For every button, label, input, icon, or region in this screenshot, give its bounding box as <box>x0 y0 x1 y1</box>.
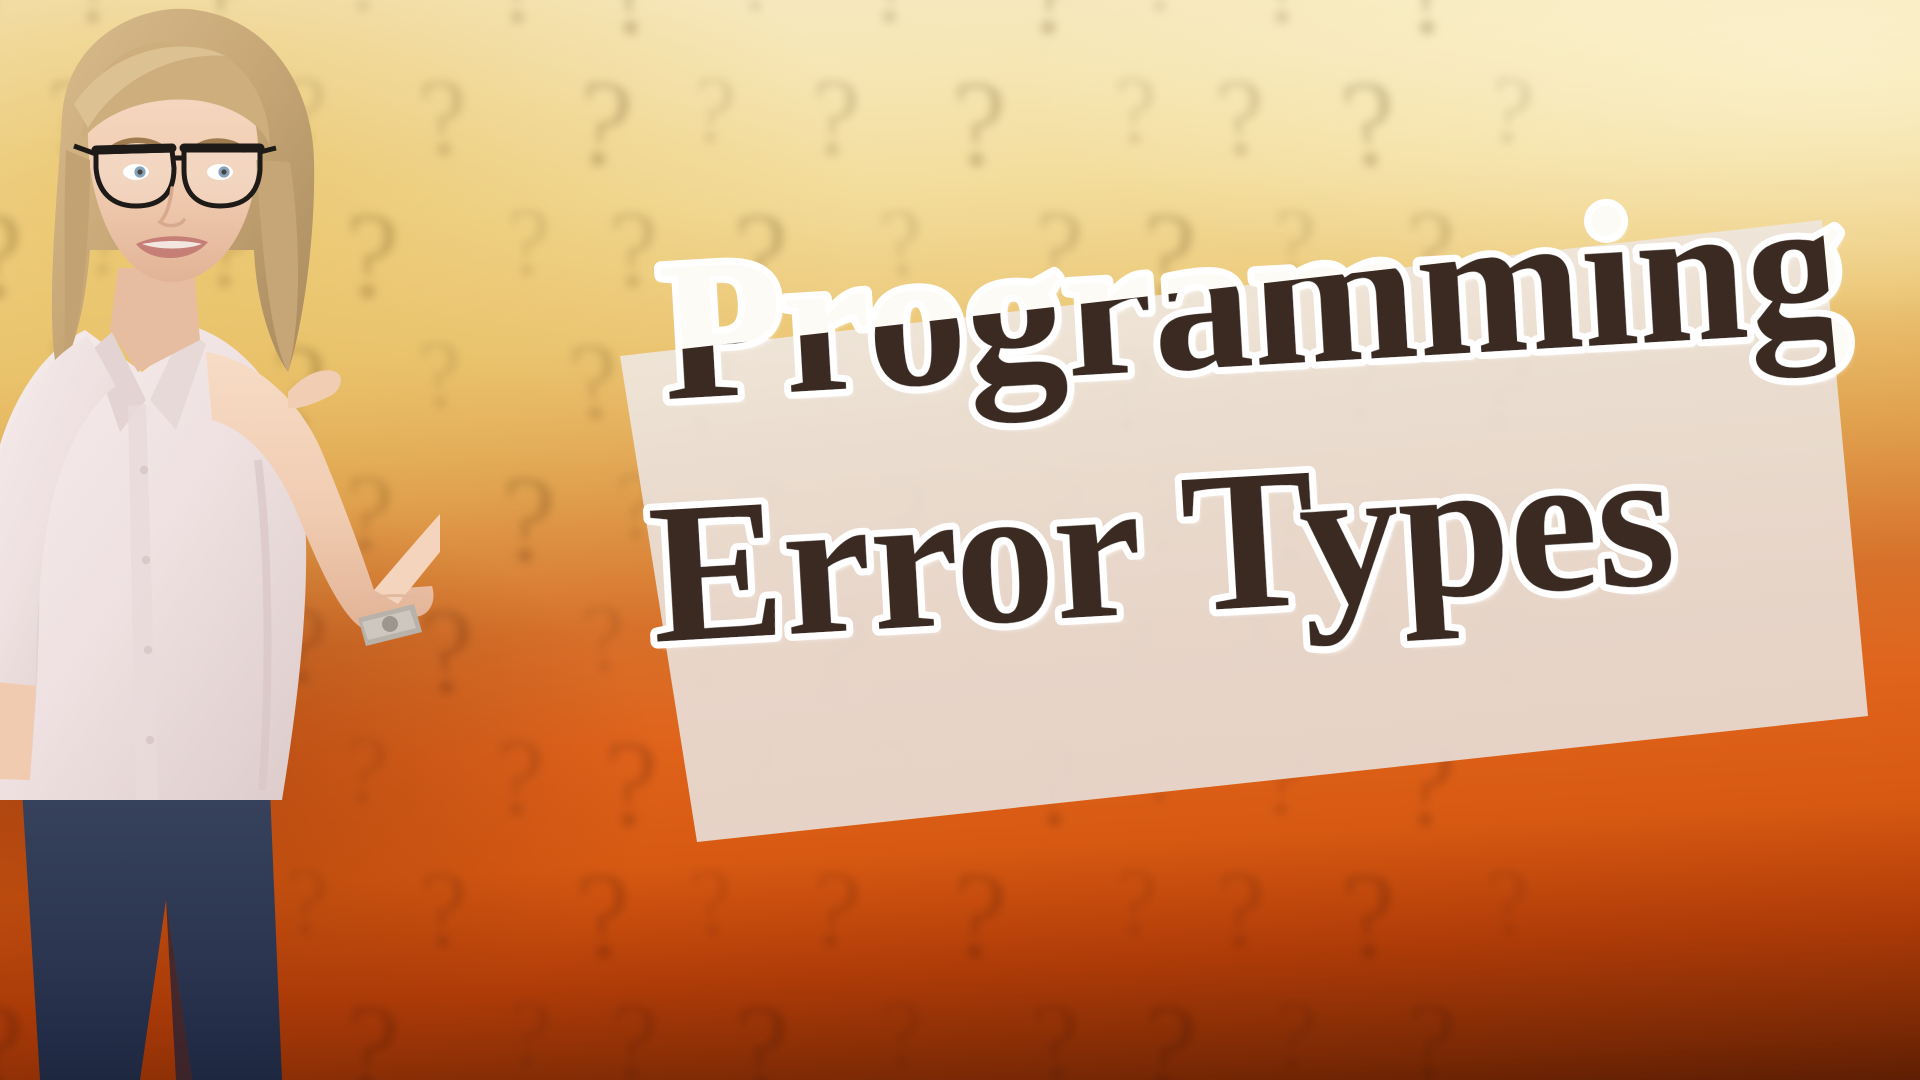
question-mark-glyph: ? <box>870 456 936 584</box>
question-mark-glyph: ? <box>1138 193 1199 320</box>
question-mark-glyph: ? <box>1477 588 1539 716</box>
question-mark-glyph: ? <box>807 588 871 716</box>
question-mark-glyph: ? <box>865 720 922 847</box>
question-mark-glyph: ? <box>809 61 862 187</box>
question-mark-glyph: ? <box>608 193 661 319</box>
question-mark-glyph: ? <box>1331 324 1390 452</box>
question-mark-glyph: ? <box>493 721 546 847</box>
question-mark-glyph: ? <box>952 62 1007 186</box>
question-mark-glyph: ? <box>504 985 553 1080</box>
question-mark-glyph: ? <box>806 852 865 980</box>
question-mark-glyph: ? <box>1214 325 1263 451</box>
question-mark-glyph: ? <box>1109 590 1158 714</box>
question-mark-glyph: ? <box>1136 720 1189 847</box>
question-mark-glyph: ? <box>731 192 795 320</box>
question-mark-glyph: ? <box>1271 194 1316 319</box>
question-mark-glyph: ? <box>1216 854 1267 979</box>
question-mark-glyph: ? <box>1405 985 1458 1080</box>
question-mark-glyph: ? <box>604 722 659 846</box>
question-mark-glyph: ? <box>734 986 791 1080</box>
question-mark-glyph: ? <box>1406 194 1457 319</box>
question-mark-glyph: ? <box>1137 456 1194 583</box>
question-mark-glyph: ? <box>1268 985 1319 1080</box>
question-mark-glyph: ? <box>688 61 739 188</box>
question-mark-glyph: ? <box>863 0 925 56</box>
question-mark-glyph: ? <box>1027 192 1086 320</box>
question-mark-glyph: ? <box>1032 456 1087 584</box>
question-mark-glyph: ? <box>944 326 995 451</box>
question-mark-glyph: ? <box>1400 722 1457 847</box>
question-mark-glyph: ? <box>680 588 742 716</box>
question-mark-glyph: ? <box>876 192 931 320</box>
question-mark-glyph: ? <box>573 852 637 980</box>
question-mark-glyph: ? <box>1471 323 1539 452</box>
question-mark-glyph: ? <box>730 0 783 56</box>
question-mark-glyph: ? <box>1027 984 1086 1080</box>
question-mark-glyph: ? <box>1344 589 1395 716</box>
question-mark-glyph: ? <box>601 0 662 55</box>
question-mark-glyph: ? <box>1114 854 1159 979</box>
question-mark-glyph: ? <box>1413 458 1456 582</box>
question-mark-glyph: ? <box>733 721 780 846</box>
question-mark-glyph: ? <box>1101 326 1158 451</box>
question-mark-glyph: ? <box>949 853 1010 980</box>
question-mark-glyph: ? <box>1113 61 1160 186</box>
avatar <box>0 0 440 1080</box>
question-mark-glyph: ? <box>732 457 787 583</box>
question-mark-glyph: ? <box>675 324 741 452</box>
question-mark-glyph: ? <box>1484 60 1537 187</box>
question-mark-glyph: ? <box>1020 719 1088 848</box>
question-mark-glyph: ? <box>1022 0 1086 56</box>
question-mark-glyph: ? <box>494 0 545 54</box>
question-mark-glyph: ? <box>1135 983 1203 1080</box>
question-mark-glyph: ? <box>1336 59 1404 188</box>
question-mark-glyph: ? <box>1260 0 1309 54</box>
question-mark-glyph: ? <box>609 986 660 1080</box>
question-mark-glyph: ? <box>808 325 857 451</box>
question-mark-glyph: ? <box>956 589 1003 714</box>
question-mark-glyph: ? <box>565 324 627 452</box>
question-mark-glyph: ? <box>1399 0 1458 55</box>
question-mark-glyph: ? <box>500 458 557 583</box>
banner-canvas: ????????????????????????????????????????… <box>0 0 1920 1080</box>
jeans <box>22 790 282 1080</box>
question-mark-glyph: ? <box>686 852 741 980</box>
question-mark-glyph: ? <box>615 458 660 583</box>
question-mark-glyph: ? <box>508 194 551 318</box>
question-mark-glyph: ? <box>879 985 928 1080</box>
question-mark-glyph: ? <box>578 588 631 715</box>
question-mark-glyph: ? <box>1339 853 1400 980</box>
question-mark-glyph: ? <box>1257 721 1312 847</box>
question-mark-glyph: ? <box>1264 457 1323 583</box>
question-mark-glyph: ? <box>1139 0 1186 55</box>
question-mark-glyph: ? <box>1484 852 1537 979</box>
question-mark-glyph: ? <box>1213 60 1270 187</box>
question-mark-glyph: ? <box>571 59 639 188</box>
question-mark-glyph: ? <box>1215 589 1274 715</box>
